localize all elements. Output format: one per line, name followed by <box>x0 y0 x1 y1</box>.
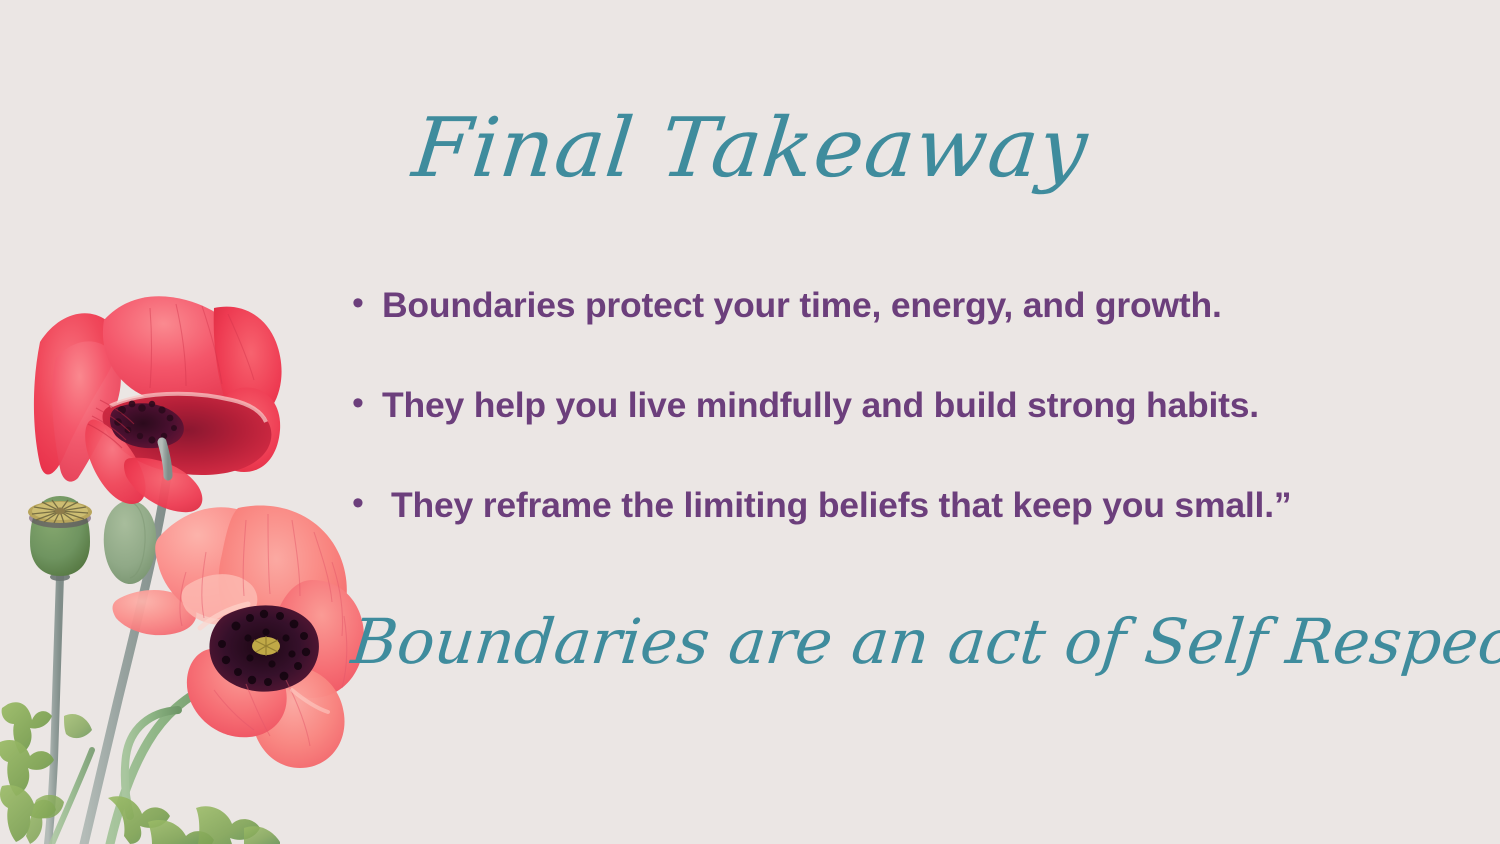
poppy-bud <box>104 500 157 584</box>
bullet-dot-icon: • <box>352 286 382 320</box>
watercolor-poppy-flowers-illustration <box>0 280 380 844</box>
takeaway-bullet-list: • Boundaries protect your time, energy, … <box>352 286 1462 586</box>
list-item-label: They reframe the limiting beliefs that k… <box>382 486 1291 525</box>
list-item: • Boundaries protect your time, energy, … <box>352 286 1462 386</box>
poppy-leaves-group <box>0 702 280 844</box>
slide-canvas: Final Takeaway • Boundaries protect your… <box>0 0 1500 844</box>
closing-tagline: Boundaries are an act of Self Respect <box>352 608 1402 676</box>
page-title: Final Takeaway <box>0 106 1500 192</box>
list-item-label: They help you live mindfully and build s… <box>382 386 1259 425</box>
list-item: • They reframe the limiting beliefs that… <box>352 486 1462 586</box>
page-title-text: Final Takeaway <box>408 106 1091 192</box>
poppy-seed-pod <box>28 496 92 581</box>
bullet-dot-icon: • <box>352 486 382 520</box>
list-item: • They help you live mindfully and build… <box>352 386 1462 486</box>
list-item-label: Boundaries protect your time, energy, an… <box>382 286 1222 325</box>
closing-tagline-text: Boundaries are an act of Self Respect <box>348 608 1500 676</box>
poppy-flower-top <box>34 296 282 512</box>
poppy-stems-group <box>48 468 214 844</box>
poppy-flower-lower <box>113 505 365 768</box>
bullet-dot-icon: • <box>352 386 382 420</box>
